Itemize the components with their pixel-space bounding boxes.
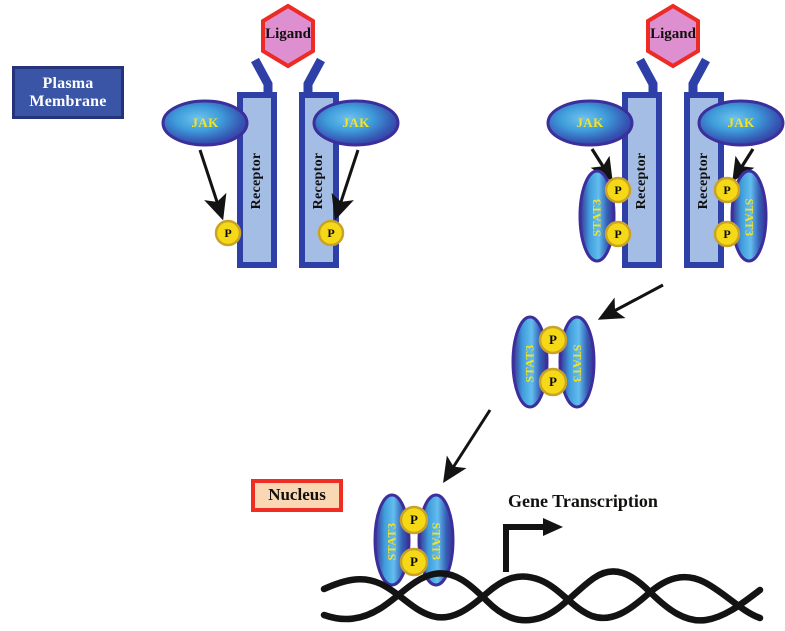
arrow-jak-to-phosphate-right bbox=[336, 150, 358, 217]
jak-ellipse-right bbox=[699, 101, 783, 145]
phosphate-circle bbox=[606, 178, 630, 202]
phosphate-circle bbox=[606, 222, 630, 246]
gene-transcription-label: Gene Transcription bbox=[508, 491, 658, 512]
stat3-ellipse-right bbox=[560, 317, 594, 407]
jak-ellipse-left bbox=[163, 101, 247, 145]
gene-transcription-arrow bbox=[506, 518, 563, 572]
phosphate-circle bbox=[715, 222, 739, 246]
phosphate-circle bbox=[319, 221, 343, 245]
phosphate-circle bbox=[401, 507, 427, 533]
stat3-ellipse-left bbox=[513, 317, 547, 407]
diagram-canvas: Plasma Membrane Nucleus Gene Transcripti… bbox=[0, 0, 785, 631]
phosphate-circle bbox=[540, 327, 566, 353]
phosphate-circle bbox=[401, 549, 427, 575]
stage-1-receptor-complex bbox=[163, 6, 398, 265]
stage-3-stat3-dimer bbox=[513, 317, 594, 407]
jak-ellipse-left bbox=[548, 101, 632, 145]
plasma-membrane-line-2: Membrane bbox=[29, 93, 106, 110]
ligand-hexagon bbox=[263, 6, 313, 66]
phosphate-circle bbox=[216, 221, 240, 245]
jak-ellipse-right bbox=[314, 101, 398, 145]
arrow-dimer-to-nucleus bbox=[445, 410, 490, 480]
arrow-jak-to-phosphate-left bbox=[200, 150, 222, 217]
nucleus-label: Nucleus bbox=[251, 479, 343, 512]
plasma-membrane-line-1: Plasma bbox=[43, 75, 94, 92]
stage-2-receptor-complex bbox=[548, 6, 783, 265]
phosphate-circle bbox=[715, 178, 739, 202]
arrow-complex-to-dimer bbox=[601, 285, 663, 318]
phosphate-circle bbox=[540, 369, 566, 395]
ligand-hexagon bbox=[648, 6, 698, 66]
plasma-membrane-label: Plasma Membrane bbox=[12, 66, 124, 119]
